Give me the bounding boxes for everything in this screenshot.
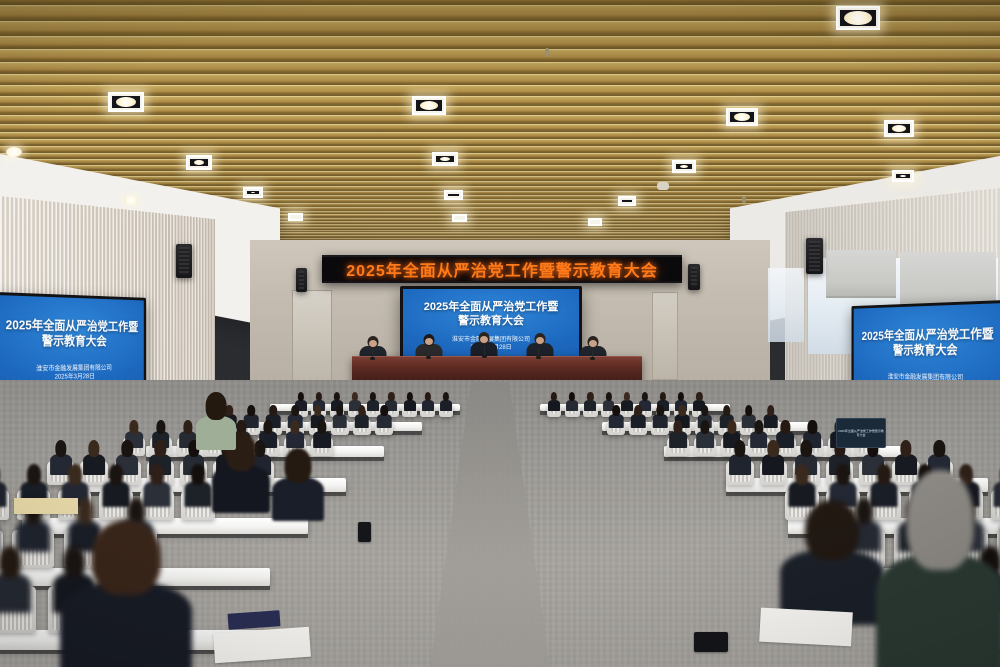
sprinkler-head-icon <box>742 196 746 203</box>
ceiling-downlight-icon <box>672 160 696 173</box>
audience-member-head <box>156 420 165 434</box>
audience-member <box>422 392 434 410</box>
microphone-icon <box>538 348 539 357</box>
ceiling-downlight-icon <box>6 147 22 157</box>
audience-member-head <box>336 405 344 416</box>
audience-member-body <box>332 414 347 428</box>
ceiling-downlight-icon <box>444 190 463 200</box>
audience-member <box>60 520 192 667</box>
audience-member-body <box>440 400 452 411</box>
ceiling-downlight-icon <box>243 187 263 198</box>
audience-member-head <box>247 405 255 416</box>
ceiling-downlight-icon <box>588 218 602 226</box>
audience-member-head <box>297 392 303 401</box>
audience-member-head <box>92 520 161 595</box>
ceiling-downlight-icon <box>288 213 303 221</box>
audience-member-head <box>612 405 620 416</box>
audience-member-head <box>380 405 388 416</box>
microphone-icon <box>428 348 429 357</box>
audience-member-head <box>27 464 41 485</box>
ceiling-camera-icon <box>657 182 669 190</box>
audience-member-head <box>122 440 133 457</box>
audience-member-body <box>762 454 784 475</box>
audience-member <box>566 392 578 410</box>
audience-member-head <box>109 464 123 485</box>
audience-member-head <box>292 405 300 416</box>
audience-member-head <box>334 392 340 401</box>
audience-member-body <box>272 477 324 520</box>
audience-member <box>0 464 6 506</box>
audience-member-head <box>317 420 326 434</box>
audience-member-body <box>355 414 370 428</box>
wall-speaker-right <box>806 238 823 274</box>
sprinkler-head-icon <box>545 48 549 57</box>
audience-member <box>404 392 416 410</box>
audience-member-body <box>876 554 1000 667</box>
audience-member-head <box>605 392 611 401</box>
ceiling-downlight-icon <box>108 92 144 112</box>
audience-member <box>696 420 714 447</box>
audience-member-body <box>653 414 668 428</box>
slide-title-line1: 2025年全面从严治党工作暨 <box>862 326 994 344</box>
audience-member-head <box>88 440 99 457</box>
microphone-icon <box>484 347 485 356</box>
smartphone[interactable] <box>358 522 371 542</box>
audience-member-body <box>631 414 646 428</box>
audience-member-head <box>734 440 745 457</box>
audience-member-head <box>425 392 431 401</box>
audience-member-head <box>316 392 322 401</box>
audience-member-head <box>68 464 82 485</box>
audience-member-head <box>407 392 413 401</box>
door-front-right[interactable] <box>652 292 678 380</box>
slide-title-line1: 2025年全面从严治党工作暨 <box>6 317 138 335</box>
audience-member-body <box>0 573 31 613</box>
audience-member-head <box>0 546 21 578</box>
audience-member-head <box>678 392 684 401</box>
wall-speaker-left-2 <box>296 268 307 292</box>
audience-member <box>355 405 370 427</box>
slide-title-line2: 警示教育大会 <box>6 333 138 349</box>
audience-member-body <box>422 400 434 411</box>
audience-member-head <box>933 440 944 457</box>
ceiling-downlight-icon <box>432 152 458 166</box>
audience-member-body <box>60 583 192 667</box>
audience-member-head <box>907 470 974 570</box>
audience-member-head <box>551 392 557 401</box>
audience-member-head <box>836 464 850 485</box>
audience-member-head <box>727 420 736 434</box>
audience-member-head <box>352 392 358 401</box>
paper-document[interactable] <box>14 498 78 514</box>
audience-member <box>631 405 646 427</box>
audience-member-head <box>656 405 664 416</box>
audience-member-body <box>696 431 714 448</box>
ceiling-downlight-icon <box>412 96 446 115</box>
audience-member-head <box>673 420 682 434</box>
audience-member-body <box>566 400 578 411</box>
audience-member-body <box>584 400 596 411</box>
audience-member-head <box>808 420 817 434</box>
audience-member-head <box>805 500 859 560</box>
audience-member-head <box>767 405 775 416</box>
audience-member <box>584 392 596 410</box>
ceiling-downlight-icon <box>124 196 138 205</box>
audience-member <box>377 405 392 427</box>
audience-member-head <box>795 464 809 485</box>
audience-member <box>286 420 304 447</box>
audience-member-head <box>183 420 192 434</box>
audience-member <box>669 420 687 447</box>
audience-member <box>0 546 31 611</box>
audience-member-head <box>696 392 702 401</box>
audience-member <box>548 392 560 410</box>
window-blind-right-2[interactable] <box>826 250 896 298</box>
audience-member <box>313 420 331 447</box>
audience-member-head <box>284 448 311 483</box>
window-right-far <box>768 268 804 342</box>
microphone-icon <box>592 349 593 358</box>
ceiling-downlight-icon <box>452 214 467 222</box>
audience-member-head <box>801 440 812 457</box>
audience-member-body <box>0 481 6 507</box>
audience-member-head <box>314 405 322 416</box>
audience-member-head <box>55 440 66 457</box>
slide-title-line2: 警示教育大会 <box>424 315 558 329</box>
audience-member-head <box>270 405 278 416</box>
smartphone[interactable] <box>694 632 728 652</box>
audience-member-head <box>129 420 138 434</box>
audience-member <box>653 405 668 427</box>
audience-member <box>272 448 324 518</box>
audience-member-body <box>669 431 687 448</box>
audience-member-head <box>660 392 666 401</box>
audience-member-head <box>900 440 911 457</box>
wall-speaker-left <box>176 244 192 278</box>
audience-member-head <box>634 405 642 416</box>
audience-member-head <box>206 392 227 420</box>
audience-member-head <box>587 392 593 401</box>
audience-member-head <box>700 420 709 434</box>
audience-member-head <box>781 420 790 434</box>
ceiling-downlight-icon <box>884 120 914 137</box>
audience-member-head <box>754 420 763 434</box>
audience-member-head <box>191 464 205 485</box>
audience-member-body <box>184 481 211 507</box>
audience-member <box>440 392 452 410</box>
led-banner-text: 2025年全面从严治党工作暨警示教育大会 <box>346 257 658 281</box>
audience-member-head <box>723 405 731 416</box>
audience-member-head <box>155 440 166 457</box>
ceiling-downlight-icon <box>726 108 758 126</box>
audience-member-body <box>377 414 392 428</box>
door-front-left[interactable] <box>292 290 332 382</box>
audience-member <box>609 405 624 427</box>
audience-member-head <box>388 392 394 401</box>
audience-member-head <box>701 405 709 416</box>
audience-member <box>184 464 211 506</box>
laptop[interactable]: 2025年全面从严治党工作暨警示教育大会 <box>836 418 886 448</box>
microphone-icon <box>372 349 373 358</box>
audience-member-body <box>404 400 416 411</box>
ceiling-downlight-icon <box>618 196 636 206</box>
ceiling-downlight-icon <box>892 170 914 182</box>
audience-member-head <box>679 405 687 416</box>
audience-member-head <box>745 405 753 416</box>
slide-title-line2: 警示教育大会 <box>862 342 994 358</box>
audience-member <box>876 470 1000 667</box>
audience-member-body <box>286 431 304 448</box>
ceiling-downlight-icon <box>836 6 880 30</box>
audience-member-head <box>291 420 300 434</box>
audience-member-head <box>370 392 376 401</box>
audience-member-body <box>729 454 751 475</box>
audience-member-body <box>313 431 331 448</box>
led-banner: 2025年全面从严治党工作暨警示教育大会 <box>322 255 682 283</box>
audience-member-head <box>358 405 366 416</box>
audience-member-body <box>609 414 624 428</box>
ceiling-downlight-icon <box>186 155 212 170</box>
audience-member-head <box>569 392 575 401</box>
audience-member-head <box>443 392 449 401</box>
audience-member-body <box>196 416 236 451</box>
laptop-slide-text: 2025年全面从严治党工作暨警示教育大会 <box>837 429 885 437</box>
audience-member-body <box>548 400 560 411</box>
conference-room-photo: 2025年全面从严治党工作暨警示教育大会 2025年全面从严治党工作暨 警示教育… <box>0 0 1000 667</box>
audience-member <box>780 500 884 620</box>
audience-member <box>332 405 347 427</box>
audience-member-head <box>624 392 630 401</box>
wall-speaker-right-2 <box>688 264 700 290</box>
audience-member-head <box>768 440 779 457</box>
slide-title-line1: 2025年全面从严治党工作暨 <box>424 301 558 315</box>
audience-member <box>729 440 751 474</box>
audience-member-head <box>642 392 648 401</box>
audience-member-body <box>212 465 270 513</box>
audience-member-head <box>150 464 164 485</box>
paper-document[interactable] <box>759 608 853 647</box>
audience-member <box>196 392 236 448</box>
audience-member <box>762 440 784 474</box>
